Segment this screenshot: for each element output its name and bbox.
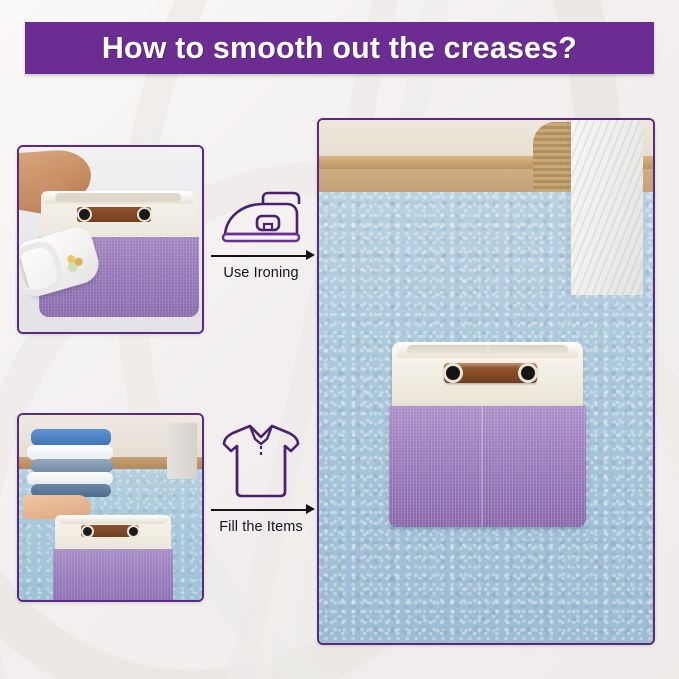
polo-shirt-icon — [205, 418, 317, 500]
basket-rim — [59, 515, 167, 524]
arrow-head — [306, 504, 315, 514]
basket-interior-divider — [487, 345, 490, 356]
step-fill-the-items: Fill the Items — [205, 418, 317, 535]
step-label-fill-the-items: Fill the Items — [205, 519, 317, 535]
clothes-iron-icon — [205, 188, 317, 246]
basket-purple-lower — [53, 549, 173, 602]
arrow-right-icon — [205, 504, 317, 516]
filling-basket-with-folded-towels-photo — [17, 413, 204, 602]
page-title: How to smooth out the creases? — [102, 30, 577, 66]
grommet-right — [139, 209, 150, 220]
step-use-ironing: Use Ironing — [205, 188, 317, 281]
folded-towel — [27, 445, 113, 460]
arrow-shaft — [211, 255, 307, 257]
arrow-shaft — [211, 509, 307, 511]
infographic-canvas: How to smooth out the creases? — [0, 0, 679, 679]
folded-towel — [31, 429, 111, 446]
basket-interior — [55, 193, 181, 202]
basket-corner-seam — [481, 406, 483, 527]
grommet-left — [79, 209, 90, 220]
step-label-use-ironing: Use Ironing — [205, 265, 317, 281]
grommet-left — [446, 366, 460, 380]
finished-basket-on-blue-rug-photo — [317, 118, 655, 645]
white-curtain — [571, 120, 643, 295]
basket-purple-lower — [389, 406, 586, 527]
title-banner: How to smooth out the creases? — [25, 22, 654, 74]
grommet-right — [521, 366, 535, 380]
grommet-right — [129, 527, 138, 536]
folded-towel — [31, 459, 113, 473]
arrow-head — [306, 250, 315, 260]
furniture-leg — [167, 423, 197, 479]
grommet-left — [83, 527, 92, 536]
arrow-right-icon — [205, 250, 317, 262]
ironing-the-storage-basket-photo — [17, 145, 204, 334]
